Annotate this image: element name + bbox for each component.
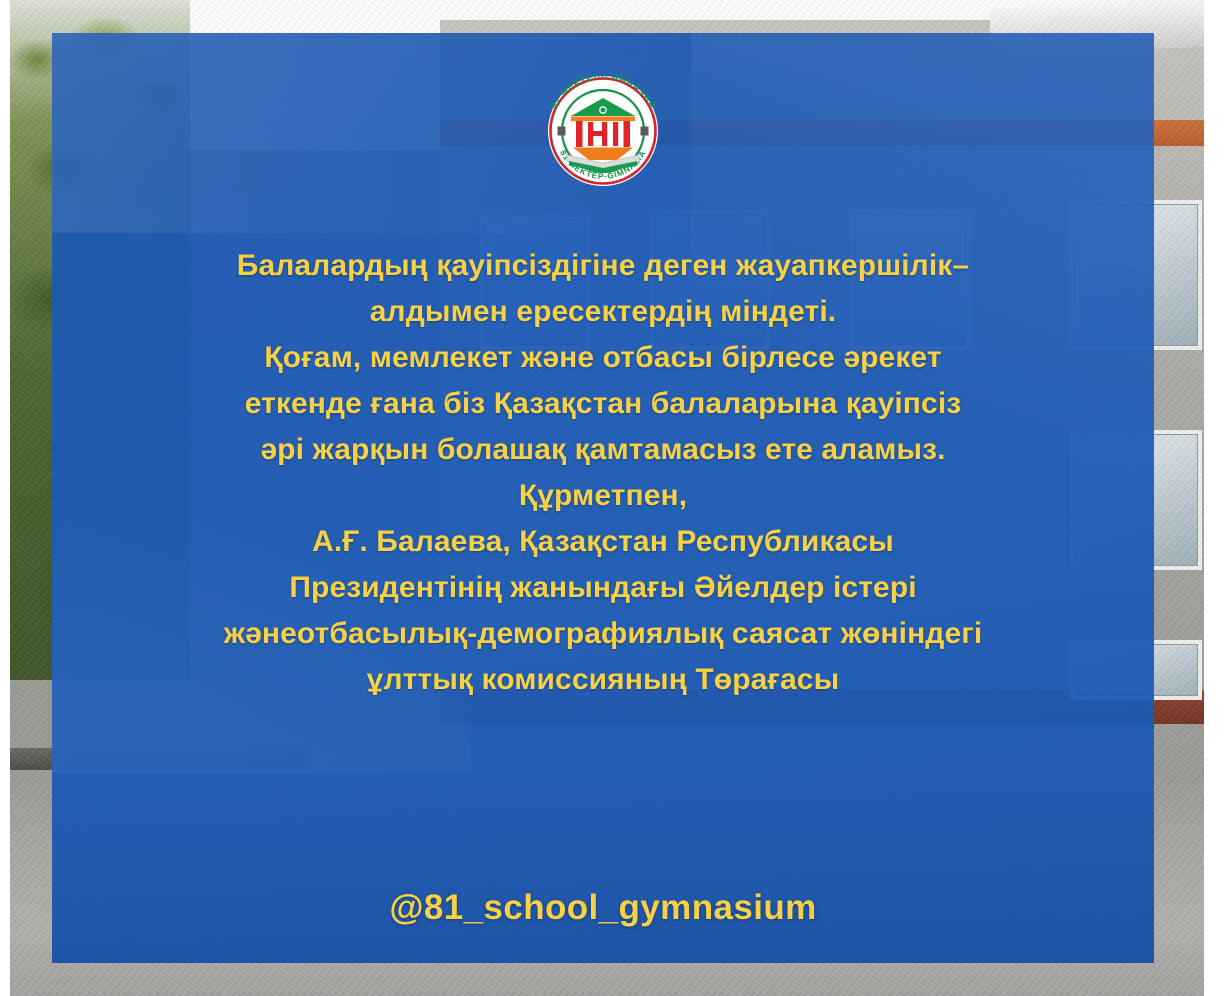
- message-line: жәнеотбасылық-демографиялық саясат жөнін…: [76, 611, 1130, 657]
- message-line: ұлттық комиссияның Төрағасы: [76, 657, 1130, 703]
- panel-sheen: [52, 733, 1154, 963]
- blue-overlay-panel: 81 МЕКТЕП-ГИМНАЗИЯ 81 MEKTEP-GIMNAZIA: [52, 33, 1154, 963]
- message-line: еткенде ғана біз Қазақстан балаларына қа…: [76, 381, 1130, 427]
- message-line: Құрметпен,: [76, 473, 1130, 519]
- message-line: алдымен ересектердің міндеті.: [76, 289, 1130, 335]
- message-line: А.Ғ. Балаева, Қазақстан Республикасы: [76, 519, 1130, 565]
- message-line: әрі жарқын болашақ қамтамасыз ете аламыз…: [76, 427, 1130, 473]
- social-handle: @81_school_gymnasium: [52, 888, 1154, 928]
- poster-canvas: 81 МЕКТЕП-ГИМНАЗИЯ 81 MEKTEP-GIMNAZIA: [0, 0, 1226, 996]
- logo-container: 81 МЕКТЕП-ГИМНАЗИЯ 81 MEKTEP-GIMNAZIA: [52, 75, 1154, 187]
- message-line: Балалардың қауіпсіздігіне деген жауапкер…: [76, 243, 1130, 289]
- school-emblem-icon: 81 МЕКТЕП-ГИМНАЗИЯ 81 MEKTEP-GIMNAZIA: [531, 75, 675, 187]
- message-line: Қоғам, мемлекет және отбасы бірлесе әрек…: [76, 335, 1130, 381]
- message-line: Президентінің жанындағы Әйелдер істері: [76, 565, 1130, 611]
- left-white-margin: [0, 0, 10, 996]
- message-block: Балалардың қауіпсіздігіне деген жауапкер…: [52, 243, 1154, 703]
- right-white-margin: [1204, 0, 1226, 996]
